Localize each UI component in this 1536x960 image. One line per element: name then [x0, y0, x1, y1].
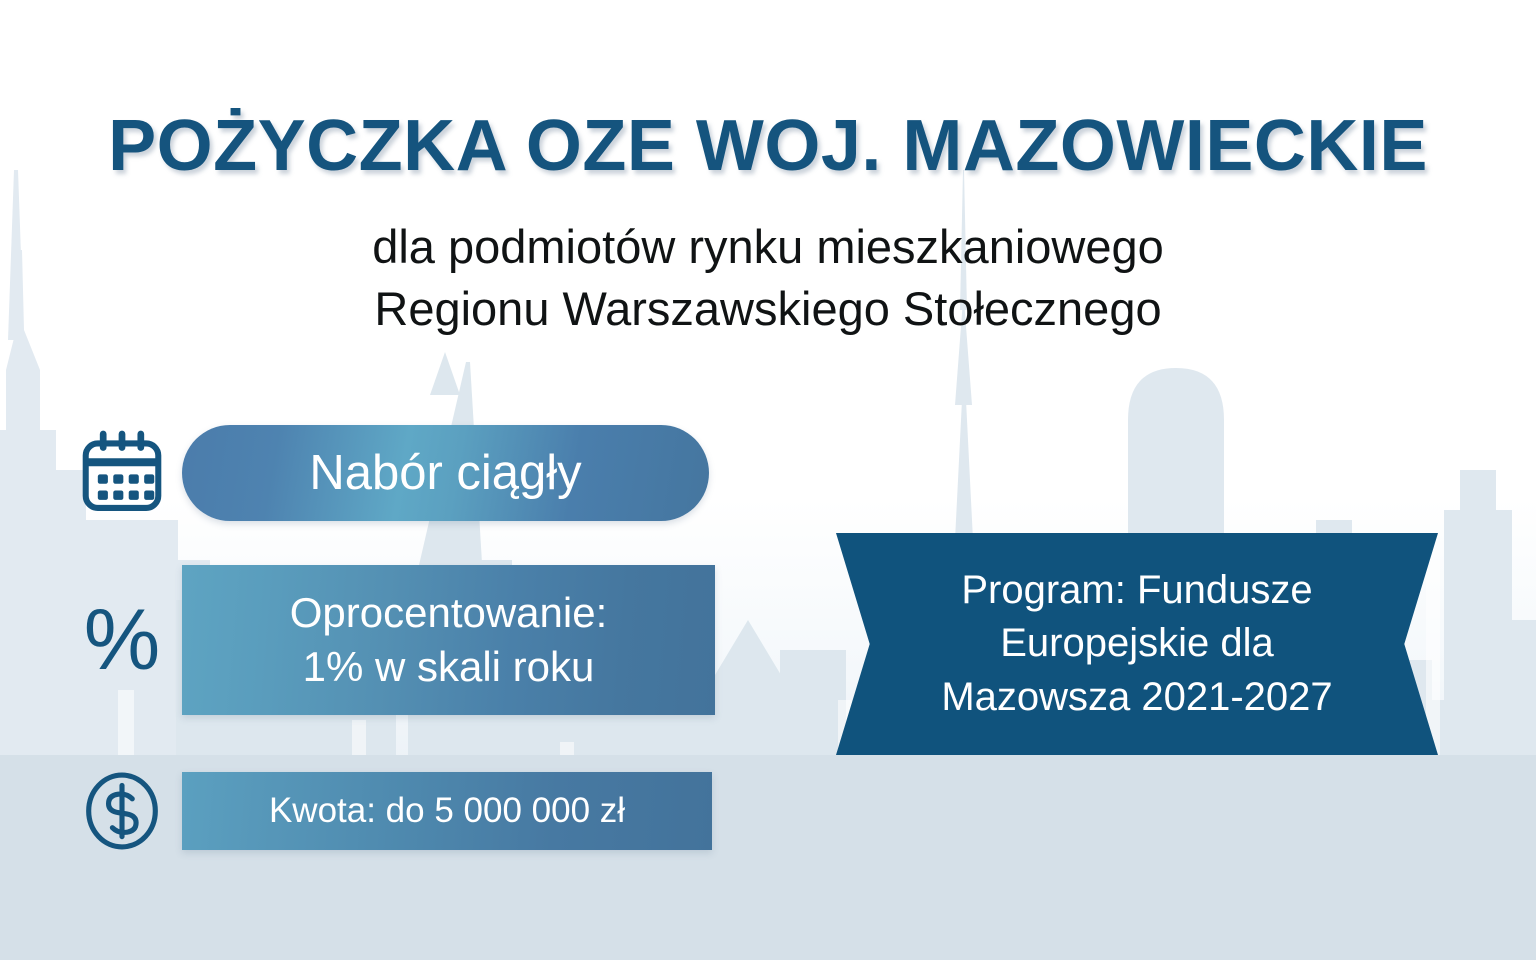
percent-icon: % [62, 597, 182, 683]
badge-oprocentowanie: Oprocentowanie: 1% w skali roku [182, 565, 715, 715]
subtitle-line-2: Regionu Warszawskiego Stołecznego [0, 278, 1536, 340]
badge-nabor-ciagly: Nabór ciągły [182, 425, 709, 521]
ribbon-line-3: Mazowsza 2021-2027 [941, 671, 1332, 724]
badge-kwota-label: Kwota: do 5 000 000 zł [269, 791, 625, 831]
page-subtitle: dla podmiotów rynku mieszkaniowego Regio… [0, 216, 1536, 340]
ribbon-text: Program: Fundusze Europejskie dla Mazows… [836, 533, 1438, 755]
dollar-circle-icon [62, 770, 182, 852]
percent-glyph: % [84, 597, 160, 683]
feature-row-nabor: Nabór ciągły [62, 425, 709, 521]
page-title: POŻYCZKA OZE WOJ. MAZOWIECKIE [0, 110, 1536, 182]
calendar-icon [62, 430, 182, 516]
infographic-poster: POŻYCZKA OZE WOJ. MAZOWIECKIE dla podmio… [0, 0, 1536, 960]
ribbon-line-1: Program: Fundusze [941, 564, 1332, 617]
badge-oprocentowanie-line-1: Oprocentowanie: [290, 586, 608, 640]
badge-oprocentowanie-label: Oprocentowanie: 1% w skali roku [290, 586, 608, 694]
badge-nabor-label: Nabór ciągły [309, 445, 581, 501]
badge-oprocentowanie-line-2: 1% w skali roku [290, 640, 608, 694]
feature-row-kwota: Kwota: do 5 000 000 zł [62, 770, 712, 852]
feature-row-oprocentowanie: % Oprocentowanie: 1% w skali roku [62, 565, 715, 715]
ribbon-line-2: Europejskie dla [941, 617, 1332, 670]
subtitle-line-1: dla podmiotów rynku mieszkaniowego [0, 216, 1536, 278]
badge-kwota: Kwota: do 5 000 000 zł [182, 772, 712, 850]
program-ribbon: Program: Fundusze Europejskie dla Mazows… [836, 533, 1438, 755]
